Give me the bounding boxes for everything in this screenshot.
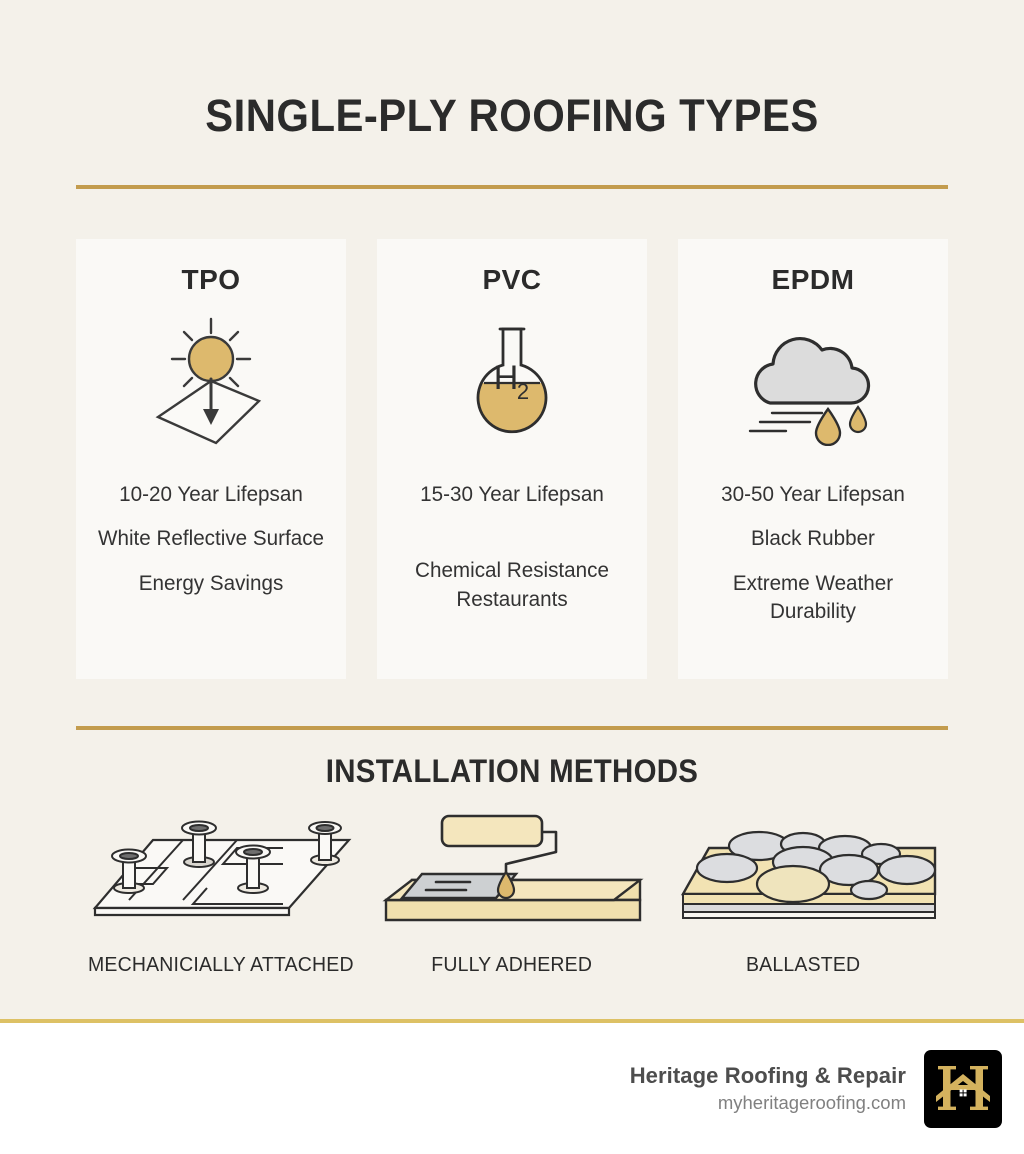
title-divider [76,185,948,189]
feature-item: 15-30 Year Lifepsan [394,480,630,508]
card-title-epdm: EPDM [772,264,855,296]
flask-formula-subscript: 2 [517,379,529,404]
features-tpo: 10-20 Year Lifepsan White Reflective Sur… [76,480,346,597]
method-ballasted: BALLASTED [657,812,948,979]
brand-name: Heritage Roofing & Repair [630,1063,906,1089]
rain-cloud-icon [738,308,888,458]
method-mechanically-attached: MECHANICIALLY ATTACHED [76,812,367,979]
roofing-type-cards: TPO [76,239,948,679]
section-divider [76,726,948,730]
feature-item: Chemical Resistance Restaurants [394,556,630,613]
card-epdm: EPDM 30-50 Year Lifepsan [678,239,948,679]
flask-formula-letter: H [494,359,519,397]
card-tpo: TPO [76,239,346,679]
card-pvc: PVC H [377,239,647,679]
sun-over-surface-icon [146,308,276,458]
feature-item: 30-50 Year Lifepsan [695,480,931,508]
installation-methods: MECHANICIALLY ATTACHED [76,812,948,979]
brand-url[interactable]: myheritageroofing.com [630,1092,906,1114]
adhesive-roller-icon [378,812,646,934]
heritage-h-roof-logo [924,1050,1002,1128]
infographic-poster: SINGLE-PLY ROOFING TYPES TPO [0,0,1024,1154]
footer: Heritage Roofing & Repair myheritageroof… [0,1023,1024,1154]
fastener-deck-icon [87,812,355,934]
poster-body: SINGLE-PLY ROOFING TYPES TPO [0,0,1024,1019]
page-title: SINGLE-PLY ROOFING TYPES [107,0,918,142]
card-title-tpo: TPO [181,264,240,296]
card-title-pvc: PVC [482,264,541,296]
installation-heading: INSTALLATION METHODS [111,753,913,790]
feature-item: Black Rubber [695,524,931,552]
footer-text-block: Heritage Roofing & Repair myheritageroof… [630,1063,906,1114]
feature-item: Extreme Weather Durability [695,569,931,626]
feature-item: Energy Savings [93,569,329,597]
feature-item: White Reflective Surface [93,524,329,552]
method-label: MECHANICIALLY ATTACHED [88,951,354,979]
features-epdm: 30-50 Year Lifepsan Black Rubber Extreme… [678,480,948,626]
method-fully-adhered: FULLY ADHERED [367,812,658,979]
ballast-stones-icon [669,812,937,934]
method-label: BALLASTED [746,951,860,979]
feature-item: 10-20 Year Lifepsan [93,480,329,508]
method-label: FULLY ADHERED [432,951,593,979]
chemical-flask-icon: H 2 [457,308,567,458]
features-pvc: 15-30 Year Lifepsan Chemical Resistance … [377,480,647,613]
